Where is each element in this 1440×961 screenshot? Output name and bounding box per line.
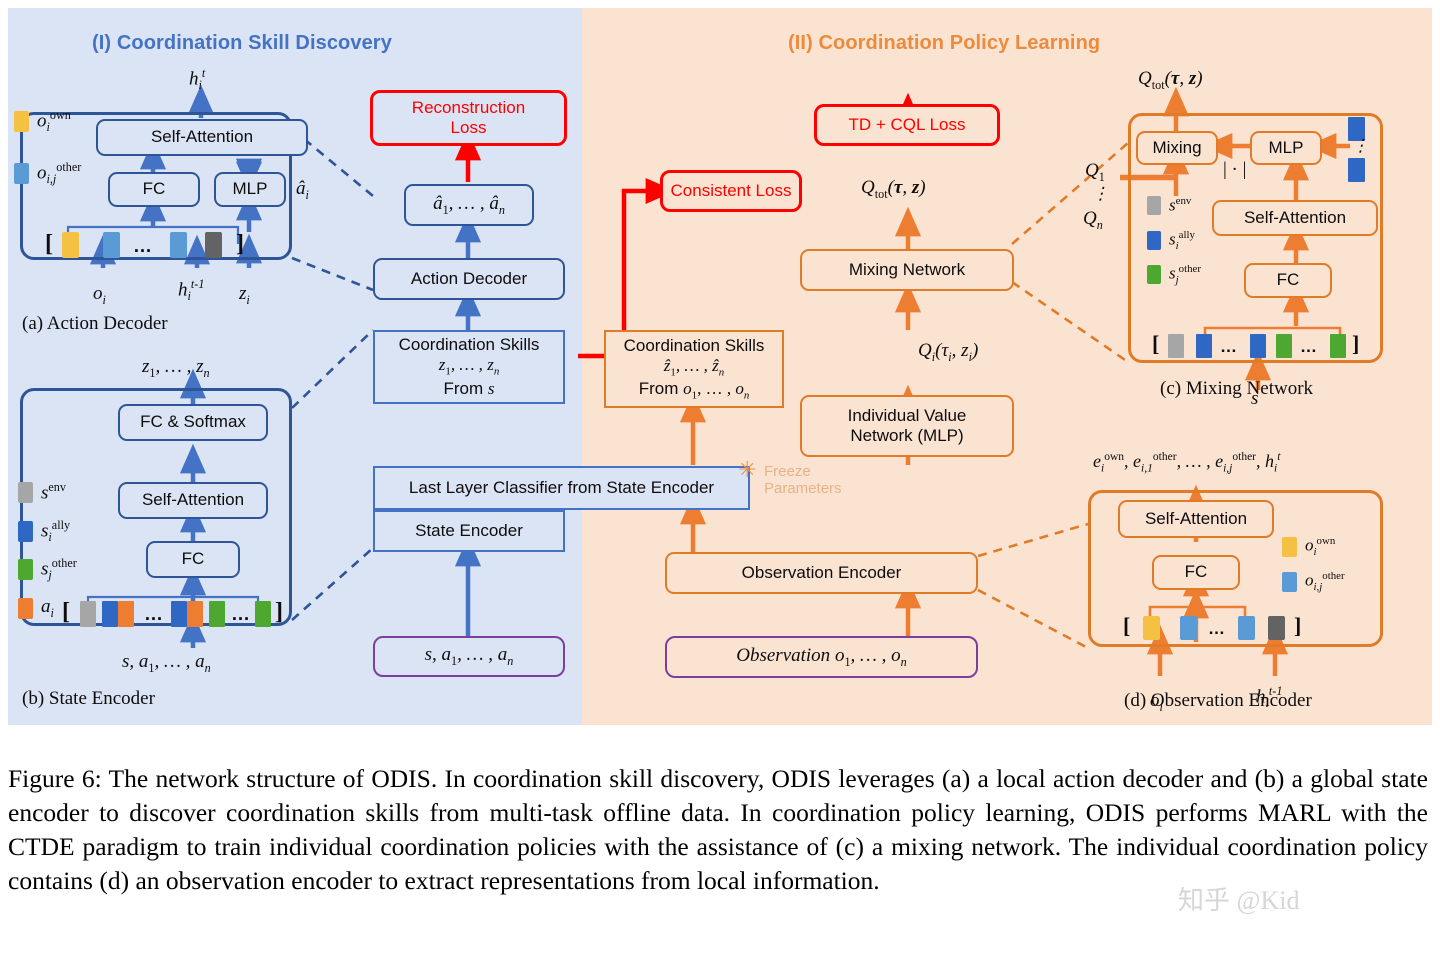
- snowflake-icon: ✳: [738, 459, 756, 481]
- chip-b-ally-1: [102, 601, 118, 627]
- bracket-open-d: [: [1123, 613, 1130, 639]
- swatch-d-own-yellow: [1282, 537, 1297, 557]
- label-d-output: eiown, ei,1other, … , ei,jother, hit: [1093, 451, 1280, 475]
- chip-a-other-2: [170, 232, 187, 258]
- bracket-open-b: [: [62, 599, 70, 626]
- caption-subfigure-d: (d) Observation Encoder: [1124, 690, 1312, 712]
- state-action-input-label: s, a1, … , an: [425, 644, 514, 668]
- mixing-network-box[interactable]: Mixing Network: [800, 249, 1014, 291]
- label-a-input-h: hit-1: [178, 277, 204, 304]
- legend-d-own: oiown: [1282, 535, 1335, 558]
- label-c-q1: Q1: [1085, 160, 1105, 185]
- chip-a-other-1: [103, 232, 120, 258]
- block-c-mlp[interactable]: MLP: [1250, 131, 1322, 165]
- chip-d-hidden: [1268, 616, 1285, 640]
- last-layer-classifier-box[interactable]: Last Layer Classifier from State Encoder: [373, 466, 750, 510]
- block-a-fc[interactable]: FC: [108, 172, 200, 207]
- swatch-action-orange: [18, 598, 33, 619]
- label-c-vdots: ⋮: [1092, 184, 1109, 204]
- label-a-input-o: oi: [93, 283, 106, 308]
- caption-subfigure-c: (c) Mixing Network: [1160, 378, 1313, 400]
- legend-c-env: senv: [1147, 195, 1191, 216]
- block-a-mlp[interactable]: MLP: [214, 172, 286, 207]
- block-c-self-attention[interactable]: Self-Attention: [1212, 200, 1378, 236]
- block-b-fc-softmax[interactable]: FC & Softmax: [118, 404, 268, 441]
- ellipsis-c-2: …: [1300, 337, 1318, 357]
- td-cql-loss-box[interactable]: TD + CQL Loss: [814, 104, 1000, 146]
- swatch-other-green: [18, 559, 33, 580]
- ellipsis-a: …: [133, 236, 153, 258]
- chip-c-other-2: [1330, 334, 1346, 358]
- block-b-self-attention[interactable]: Self-Attention: [118, 482, 268, 519]
- legend-d-other: oi,jother: [1282, 570, 1345, 593]
- coordination-skills-left-vars: z1, … , zn: [439, 355, 500, 378]
- swatch-c-other-green: [1147, 265, 1161, 284]
- legend-c-other: sjother: [1147, 263, 1201, 286]
- block-d-self-attention[interactable]: Self-Attention: [1118, 500, 1274, 538]
- swatch-c-env-gray: [1147, 196, 1161, 215]
- chip-c-other-1: [1276, 334, 1292, 358]
- swatch-other-blue: [14, 163, 29, 184]
- legend-b-ally: sially: [18, 518, 70, 545]
- chip-c-ally-2: [1250, 334, 1266, 358]
- block-c-mixing[interactable]: Mixing: [1136, 131, 1218, 165]
- label-b-output-z: z1, … , zn: [142, 356, 210, 381]
- state-action-input-box[interactable]: s, a1, … , an: [373, 636, 565, 677]
- label-a-input-z: zi: [239, 283, 250, 308]
- legend-b-other: sjother: [18, 556, 77, 583]
- bracket-open-a: [: [45, 231, 53, 258]
- bracket-close-d: ]: [1294, 613, 1301, 639]
- block-d-fc[interactable]: FC: [1152, 555, 1240, 590]
- chip-a-own: [62, 232, 79, 258]
- swatch-ally-blue: [18, 521, 33, 542]
- legend-c-ally: sially: [1147, 229, 1195, 252]
- block-a-self-attention[interactable]: Self-Attention: [96, 119, 308, 156]
- reconstruction-loss-box[interactable]: Reconstruction Loss: [370, 90, 567, 146]
- caption-subfigure-a: (a) Action Decoder: [22, 313, 168, 335]
- legend-b-env: senv: [18, 480, 66, 504]
- legend-a-own: oiown: [14, 108, 71, 135]
- block-c-fc[interactable]: FC: [1244, 263, 1332, 298]
- predicted-actions-box[interactable]: â1, … , ân: [404, 184, 534, 226]
- label-c-qn: Qn: [1083, 208, 1103, 233]
- chip-d-own: [1143, 616, 1160, 640]
- coordination-skills-left-box[interactable]: Coordination Skills z1, … , zn From s: [373, 330, 565, 404]
- observation-input-label: Observation o1, … , on: [736, 645, 907, 669]
- block-b-fc[interactable]: FC: [146, 541, 240, 578]
- chip-d-other-2: [1238, 616, 1255, 640]
- figure-caption: Figure 6: The network structure of ODIS.…: [8, 762, 1428, 899]
- freeze-parameters-note: FreezeParameters: [764, 463, 842, 498]
- bracket-close-c: ]: [1352, 331, 1359, 357]
- swatch-c-ally-blue: [1147, 231, 1161, 250]
- legend-b-action: ai: [18, 596, 54, 621]
- bracket-close-a: ]: [236, 231, 244, 258]
- chip-c-side-ally-2: [1348, 158, 1365, 182]
- chip-b-action-2: [187, 601, 203, 627]
- watermark: 知乎 @Kid: [1178, 880, 1299, 917]
- observation-encoder-box[interactable]: Observation Encoder: [665, 552, 978, 594]
- swatch-own-yellow: [14, 111, 29, 132]
- label-a-output-h: hit: [189, 66, 205, 93]
- figure-root: (I) Coordination Skill Discovery (II) Co…: [0, 0, 1440, 961]
- swatch-d-other-blue: [1282, 572, 1297, 592]
- coordination-skills-left-from: From s: [443, 379, 494, 399]
- coordination-skills-right-box[interactable]: Coordination Skills ẑ1, … , ẑn From o1, …: [604, 330, 784, 408]
- chip-b-env: [80, 601, 96, 627]
- chip-b-other-1: [209, 601, 225, 627]
- bracket-open-c: [: [1152, 331, 1159, 357]
- action-decoder-box[interactable]: Action Decoder: [373, 258, 565, 300]
- chip-b-action-1: [118, 601, 134, 627]
- label-a-output-ahat: âi: [296, 178, 309, 203]
- panel-left-title: (I) Coordination Skill Discovery: [92, 32, 392, 55]
- chip-b-other-2: [255, 601, 271, 627]
- consistent-loss-box[interactable]: Consistent Loss: [660, 170, 802, 212]
- chip-c-ally-1: [1196, 334, 1212, 358]
- chip-b-ally-2: [171, 601, 187, 627]
- label-q-i: Qi(τi, zi): [918, 340, 978, 365]
- label-q-tot-main: Qtot(τ, z): [861, 177, 926, 202]
- coordination-skills-right-from: From o1, … , on: [639, 379, 750, 402]
- label-c-output-qtot: Qtot(τ, z): [1138, 68, 1203, 93]
- legend-a-other: oi,jother: [14, 160, 81, 187]
- label-b-input: s, a1, … , an: [122, 651, 211, 676]
- individual-value-network-box[interactable]: Individual Value Network (MLP): [800, 395, 1014, 457]
- label-c-abs-operator: | · |: [1223, 159, 1246, 181]
- bracket-close-b: ]: [275, 599, 283, 626]
- ellipsis-d: …: [1208, 619, 1226, 639]
- swatch-env-gray: [18, 482, 33, 503]
- ellipsis-b-2: …: [231, 604, 251, 626]
- observation-input-box[interactable]: Observation o1, … , on: [665, 636, 978, 678]
- state-encoder-box[interactable]: State Encoder: [373, 510, 565, 552]
- caption-subfigure-b: (b) State Encoder: [22, 688, 155, 710]
- label-c-side-vdots: ⋮: [1352, 136, 1369, 156]
- predicted-actions-label: â1, … , ân: [433, 193, 505, 217]
- ellipsis-b-1: …: [144, 604, 164, 626]
- chip-a-hidden: [205, 232, 222, 258]
- chip-c-env: [1168, 334, 1184, 358]
- coordination-skills-right-vars: ẑ1, … , ẑn: [664, 356, 724, 379]
- panel-right-title: (II) Coordination Policy Learning: [788, 32, 1100, 55]
- ellipsis-c-1: …: [1220, 337, 1238, 357]
- chip-d-other-1: [1180, 616, 1197, 640]
